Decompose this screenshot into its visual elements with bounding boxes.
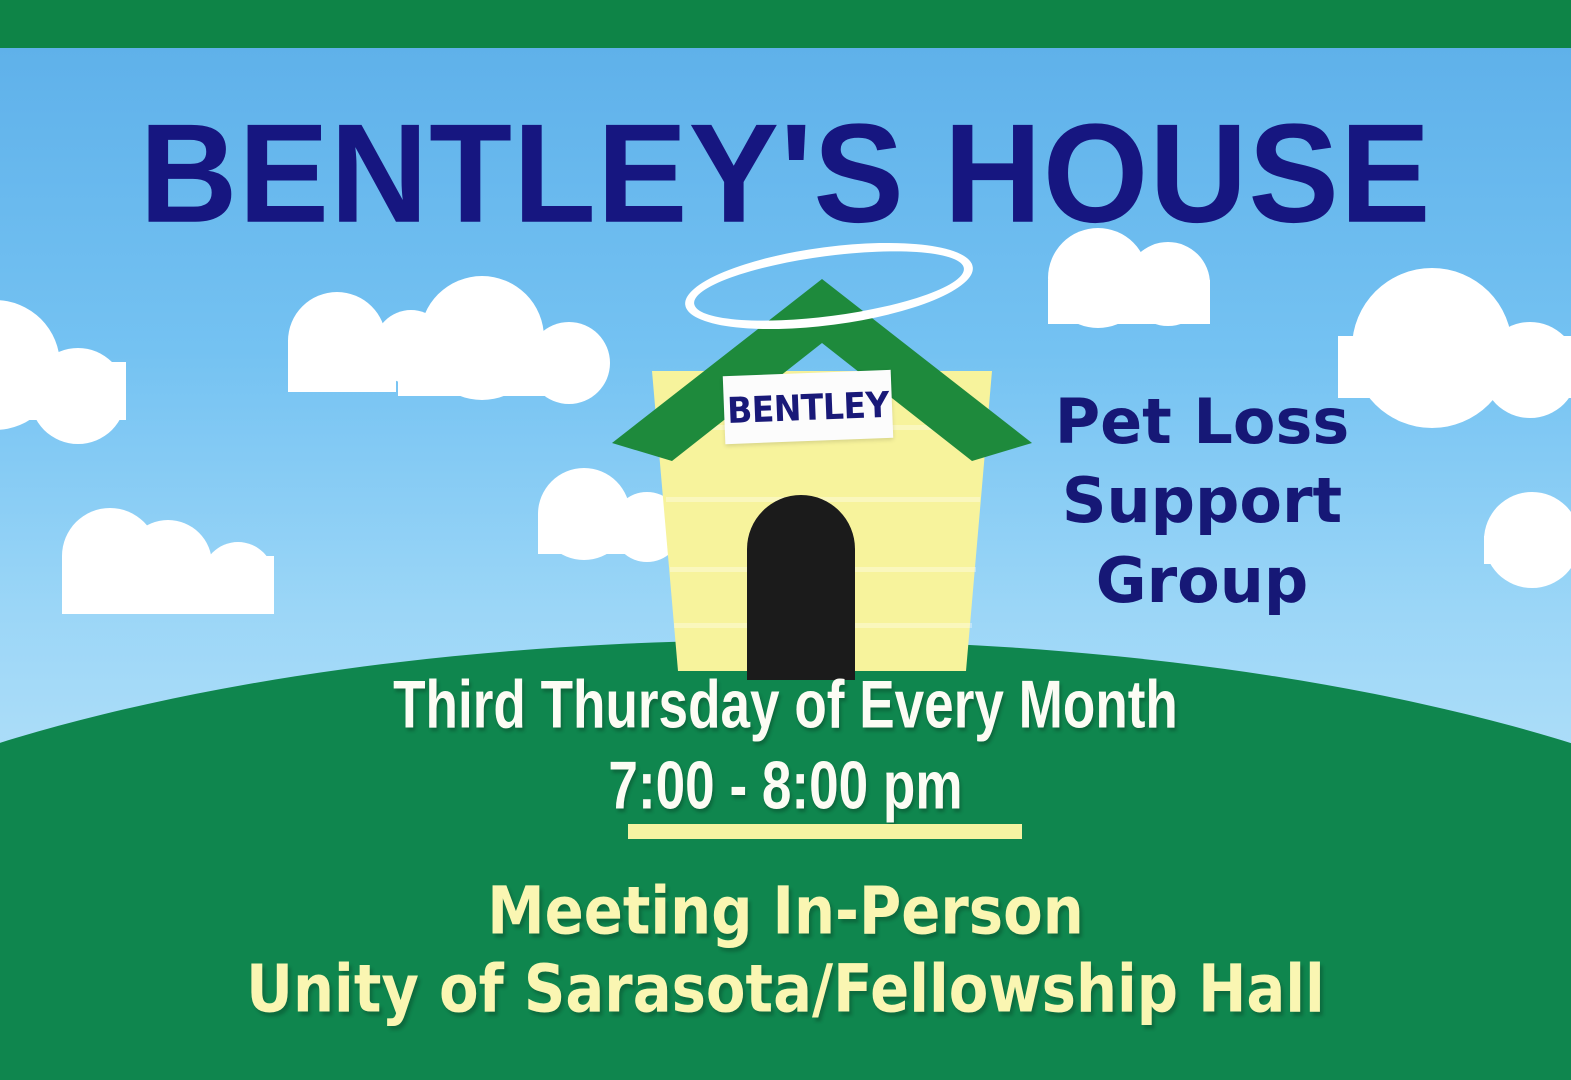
subtitle-line-3: Group [1036,541,1368,620]
bentley-sign-label: BENTLEY [726,383,889,431]
cloud-right-lower [1484,492,1571,564]
schedule-time-underline [628,824,1022,839]
subtitle-line-1: Pet Loss [1036,382,1368,461]
schedule-time: 7:00 - 8:00 pm [79,753,1493,820]
cloud-base [62,556,274,614]
cloud-base [1048,280,1210,324]
location-line-1: Meeting In-Person [55,870,1516,953]
location-block: Meeting In-Person Unity of Sarasota/Fell… [0,872,1571,1028]
cloud-mid-left [288,262,658,402]
bentley-sign: BENTLEY [723,370,893,444]
cloud-base [398,358,590,396]
cloud-right-large [1338,268,1571,398]
schedule-frequency: Third Thursday of Every Month [79,672,1493,739]
location-line-2: Unity of Sarasota/Fellowship Hall [55,948,1516,1031]
subtitle-line-2: Support [1036,461,1368,540]
doghouse-door [747,495,855,680]
subtitle-pet-loss-support-group: Pet Loss Support Group [1036,382,1368,620]
cloud-left-edge-upper [0,300,180,420]
cloud-base [1338,336,1571,398]
cloud-base [0,362,126,420]
doghouse-illustration: BENTLEY [612,243,1032,673]
poster-canvas: BENTLEY'S HOUSE BENTLEY Pet Loss Support [0,0,1571,1080]
schedule-block: Third Thursday of Every Month 7:00 - 8:0… [0,676,1571,816]
top-green-band [0,0,1571,48]
cloud-base [1484,536,1571,564]
cloud-left-lower [62,508,310,618]
page-title: BENTLEY'S HOUSE [0,104,1571,245]
